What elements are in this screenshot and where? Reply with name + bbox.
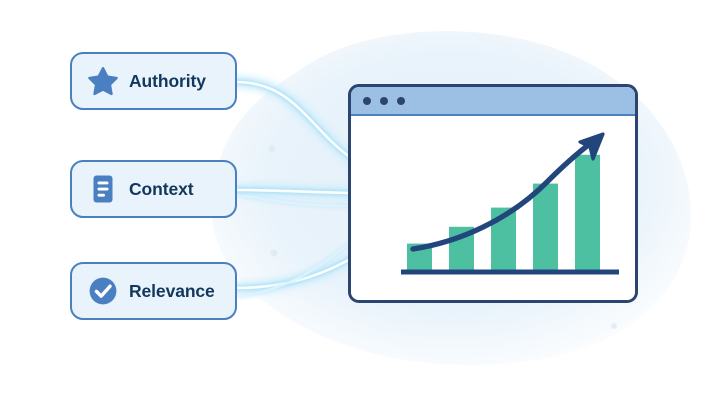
window-dot-3[interactable] xyxy=(397,97,405,105)
chart-bars xyxy=(407,155,600,270)
card-label-authority: Authority xyxy=(129,71,206,92)
chart-bar xyxy=(575,155,600,270)
window-dot-2[interactable] xyxy=(380,97,388,105)
browser-viewport xyxy=(351,116,635,302)
card-relevance[interactable]: Relevance xyxy=(70,262,237,320)
browser-titlebar xyxy=(351,87,635,116)
card-context[interactable]: Context xyxy=(70,160,237,218)
star-icon xyxy=(86,64,120,98)
window-dot-1[interactable] xyxy=(363,97,371,105)
check-circle-icon xyxy=(86,274,120,308)
document-lines-icon xyxy=(86,172,120,206)
chart-bar xyxy=(533,184,558,270)
card-authority[interactable]: Authority xyxy=(70,52,237,110)
growth-bar-chart xyxy=(351,116,635,302)
card-label-relevance: Relevance xyxy=(129,281,215,302)
card-label-context: Context xyxy=(129,179,193,200)
illustration-canvas: Authority Context Relevance xyxy=(0,0,720,400)
browser-window[interactable] xyxy=(348,84,638,303)
